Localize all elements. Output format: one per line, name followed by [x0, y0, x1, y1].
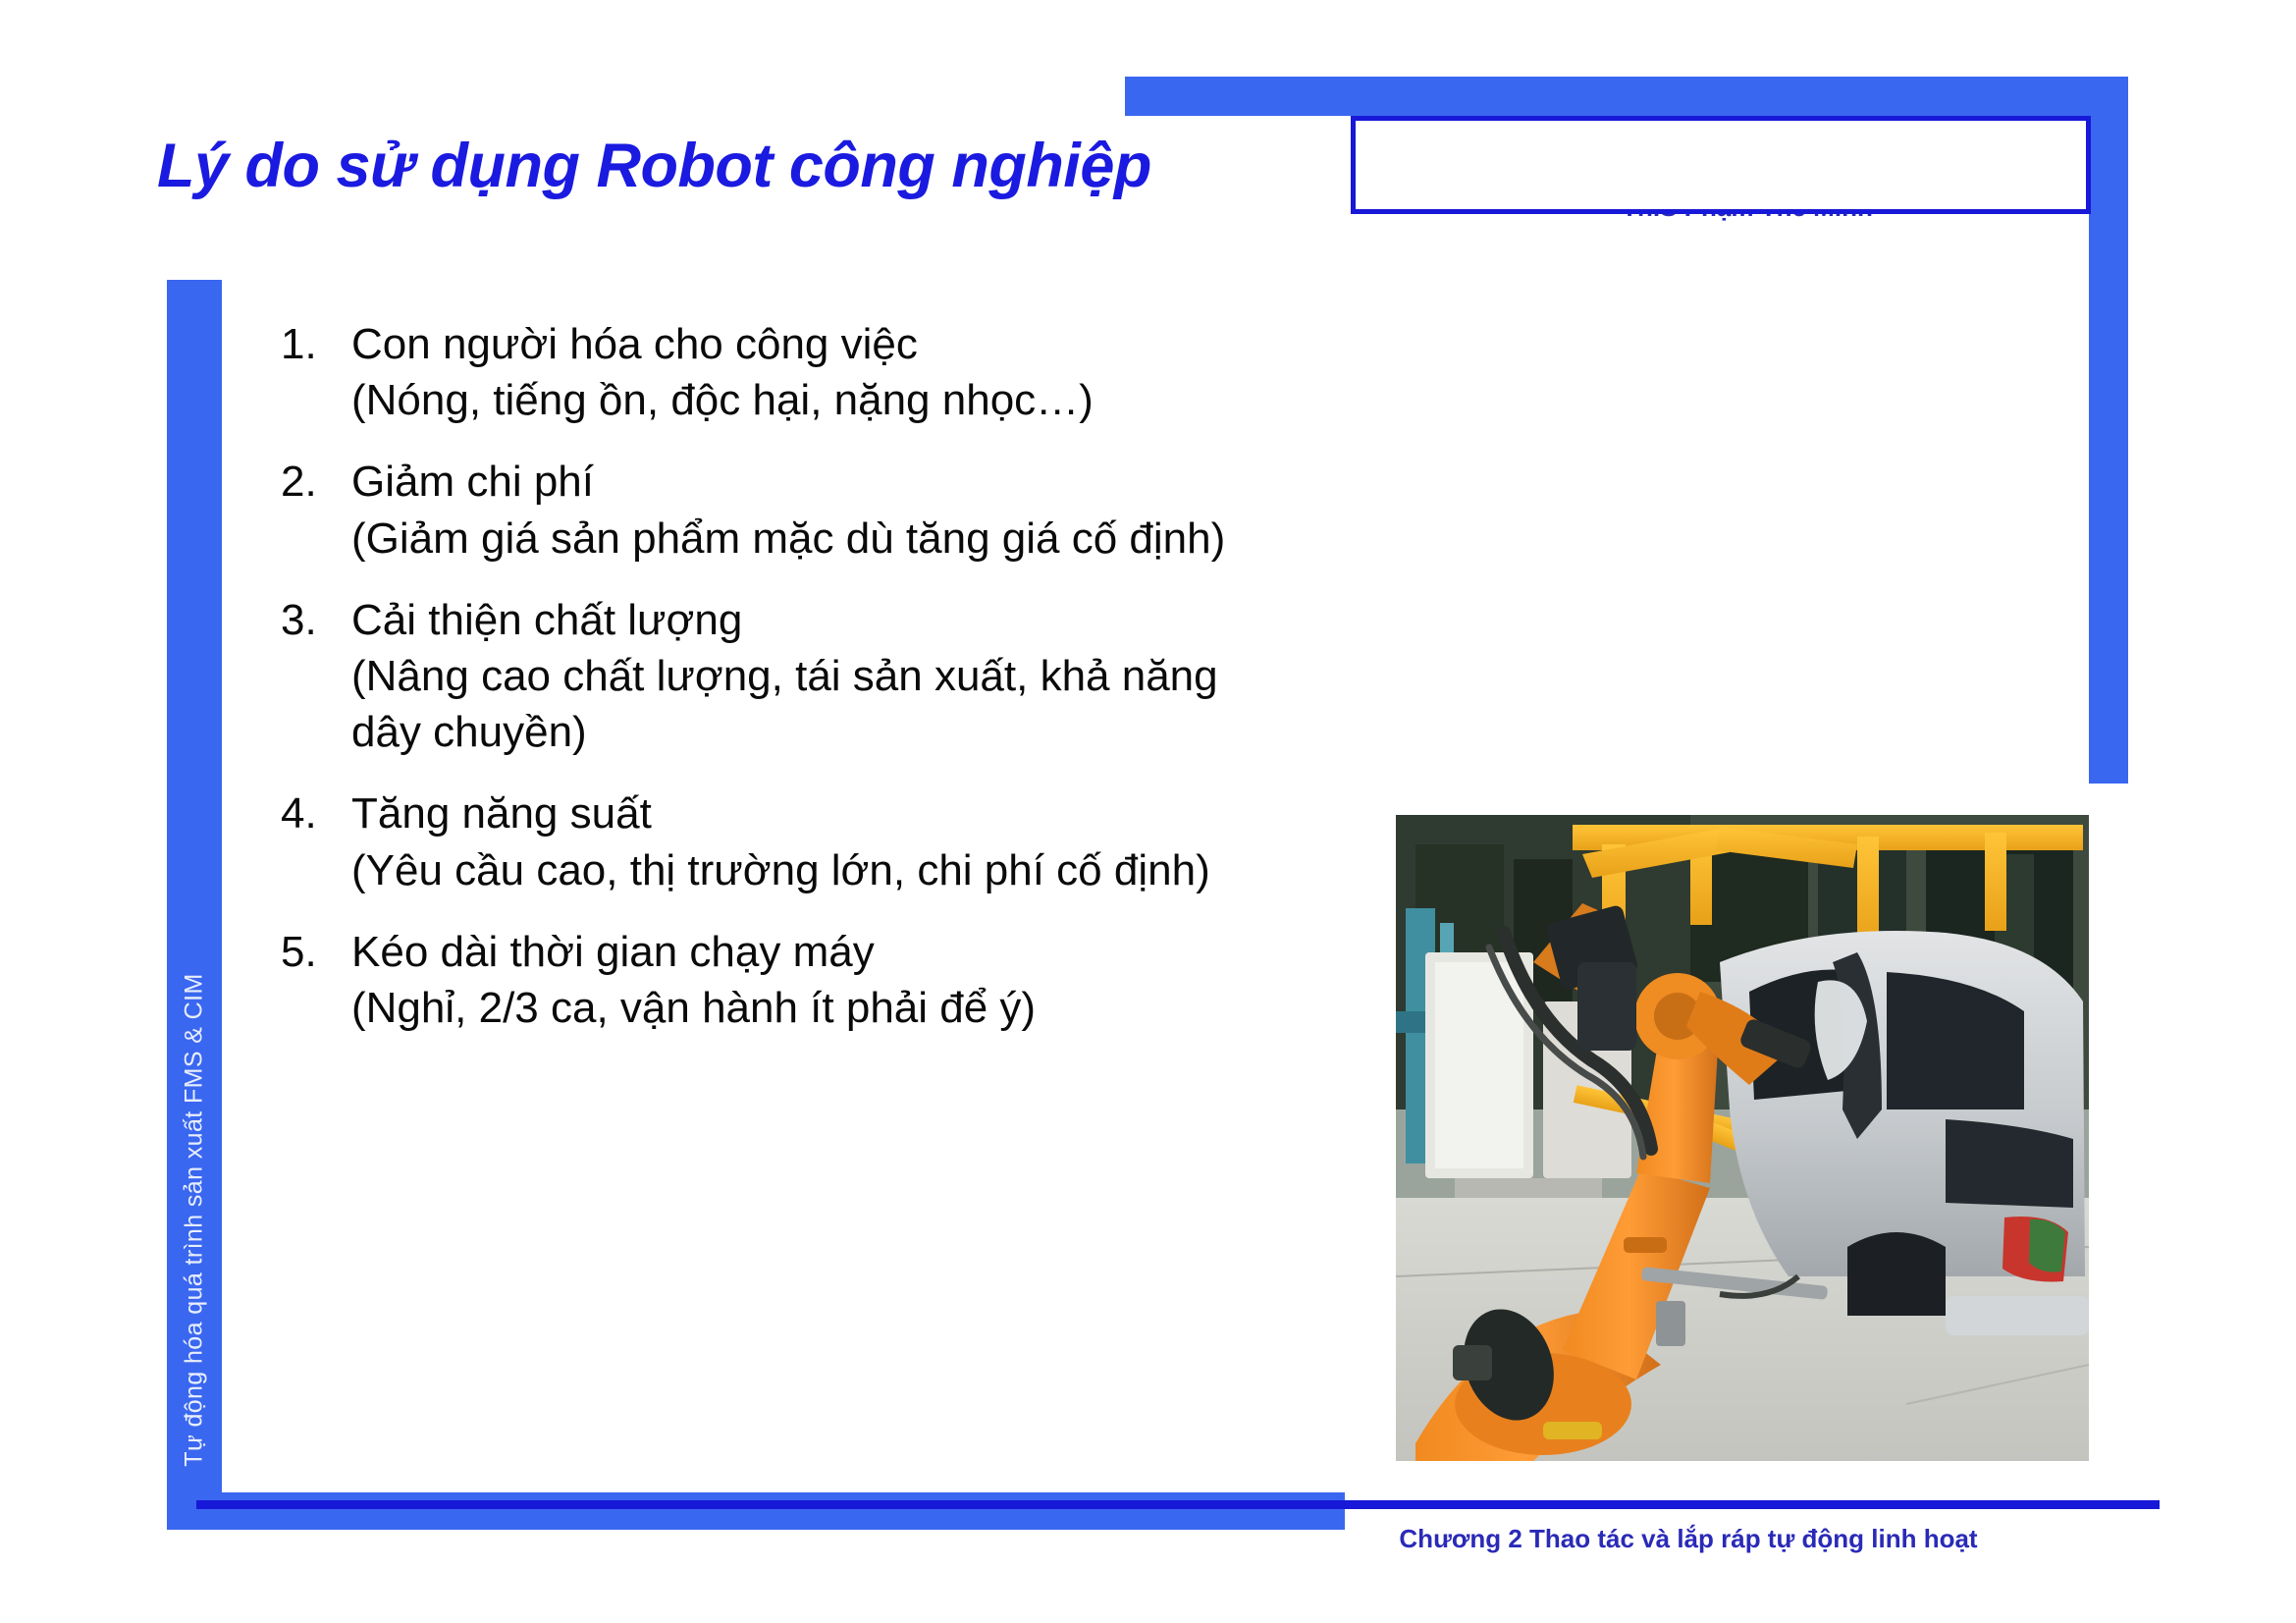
- list-item: 4. Tăng năng suất (Yêu cầu cao, thị trườ…: [281, 785, 1380, 897]
- list-item-lines: Con người hóa cho công việc (Nóng, tiếng…: [351, 316, 1380, 428]
- list-item-line-secondary: (Nóng, tiếng ồn, độc hại, nặng nhọc…): [351, 372, 1380, 428]
- list-item-line-secondary: (Yêu cầu cao, thị trường lớn, chi phí cố…: [351, 842, 1380, 898]
- list-item: 3. Cải thiện chất lượng (Nâng cao chất l…: [281, 592, 1380, 761]
- list-item-line-primary: Cải thiện chất lượng: [351, 592, 1380, 648]
- list-item-line-secondary: (Giảm giá sản phẩm mặc dù tăng giá cố đị…: [351, 511, 1380, 567]
- footer-divider-rule: [196, 1500, 2160, 1509]
- robot-assembly-line-photo: [1396, 815, 2089, 1461]
- list-item-number: 3.: [281, 592, 351, 761]
- list-item-line-primary: Kéo dài thời gian chạy máy: [351, 924, 1380, 980]
- list-item-line-secondary: (Nghỉ, 2/3 ca, vận hành ít phải để ý): [351, 980, 1380, 1036]
- list-item: 1. Con người hóa cho công việc (Nóng, ti…: [281, 316, 1380, 428]
- list-item-number: 1.: [281, 316, 351, 428]
- reasons-list: 1. Con người hóa cho công việc (Nóng, ti…: [281, 316, 1380, 1061]
- list-item-lines: Cải thiện chất lượng (Nâng cao chất lượn…: [351, 592, 1380, 761]
- list-item-line-primary: Tăng năng suất: [351, 785, 1380, 841]
- list-item-lines: Giảm chi phí (Giảm giá sản phẩm mặc dù t…: [351, 454, 1380, 566]
- list-item-line-primary: Con người hóa cho công việc: [351, 316, 1380, 372]
- list-item-number: 2.: [281, 454, 351, 566]
- title-placeholder-box: [1351, 116, 2091, 214]
- list-item-line-tertiary: dây chuyền): [351, 704, 1380, 760]
- list-item-lines: Tăng năng suất (Yêu cầu cao, thị trường …: [351, 785, 1380, 897]
- list-item: 2. Giảm chi phí (Giảm giá sản phẩm mặc d…: [281, 454, 1380, 566]
- frame-bottom-block: [167, 1492, 1345, 1530]
- footer-label: Chương 2 Thao tác và lắp ráp tự động lin…: [1345, 1524, 2032, 1554]
- list-item-line-primary: Giảm chi phí: [351, 454, 1380, 510]
- frame-left-sidebar: [167, 280, 222, 1529]
- frame-right-bar: [2089, 77, 2128, 784]
- list-item-number: 5.: [281, 924, 351, 1036]
- list-item: 5. Kéo dài thời gian chạy máy (Nghỉ, 2/3…: [281, 924, 1380, 1036]
- slide-canvas: Lý do sử dụng Robot công nghiệp Th.S Phạ…: [0, 0, 2296, 1623]
- list-item-line-secondary: (Nâng cao chất lượng, tái sản xuất, khả …: [351, 648, 1380, 704]
- slide-title: Lý do sử dụng Robot công nghiệp: [157, 131, 1335, 201]
- list-item-lines: Kéo dài thời gian chạy máy (Nghỉ, 2/3 ca…: [351, 924, 1380, 1036]
- list-item-number: 4.: [281, 785, 351, 897]
- frame-top-bar: [1125, 77, 2128, 116]
